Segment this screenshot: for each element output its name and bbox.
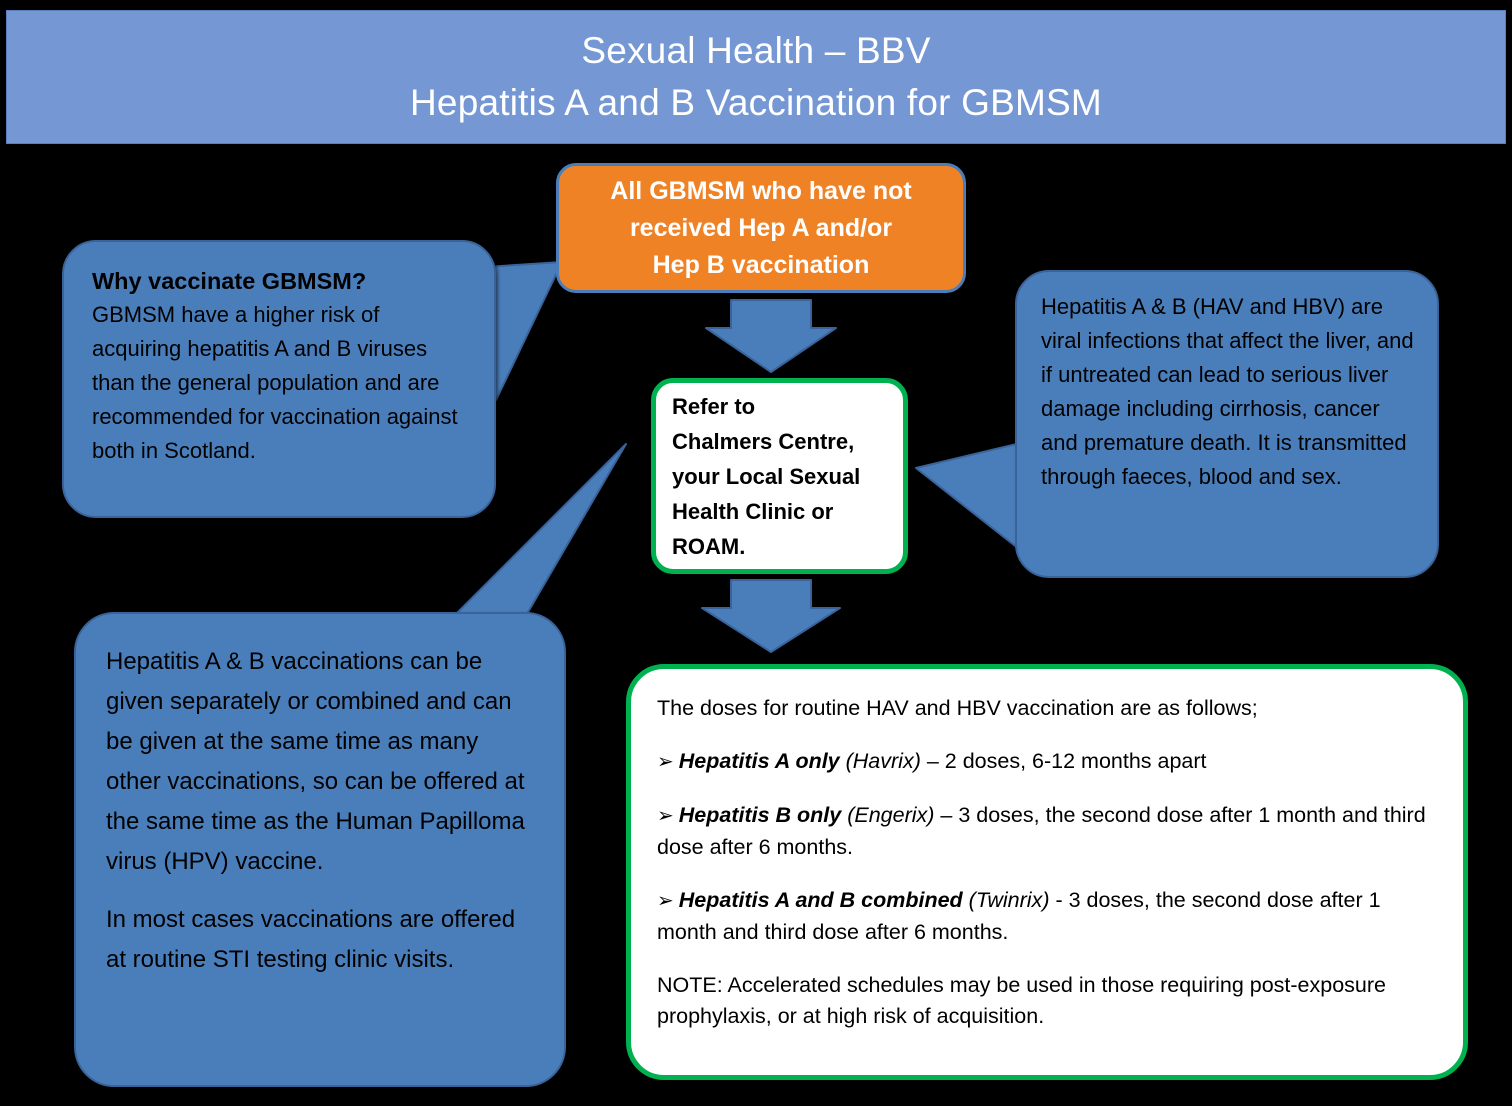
dose-item-hep-b-name: Hepatitis B only [679, 803, 841, 827]
bullet-arrow-icon: ➢ [657, 751, 679, 773]
vaccination-options-callout: Hepatitis A & B vaccinations can be give… [74, 612, 566, 1087]
dose-intro: The doses for routine HAV and HBV vaccin… [657, 693, 1427, 724]
bullet-arrow-icon: ➢ [657, 805, 679, 827]
refer-line-4: Health Clinic or [672, 494, 860, 529]
dose-schedule-box: The doses for routine HAV and HBV vaccin… [626, 664, 1468, 1080]
refer-line-3: your Local Sexual [672, 459, 860, 494]
why-vaccinate-callout: Why vaccinate GBMSM? GBMSM have a higher… [62, 240, 496, 518]
start-criteria-box: All GBMSM who have not received Hep A an… [556, 163, 966, 293]
page-title-line-1: Sexual Health – BBV [581, 25, 930, 77]
why-vaccinate-heading: Why vaccinate GBMSM? [92, 264, 468, 298]
vaccination-paragraph-2: In most cases vaccinations are offered a… [106, 900, 538, 980]
dose-item-hep-b-brand: (Engerix) [847, 803, 934, 827]
start-box-line-3: Hep B vaccination [610, 247, 911, 284]
page-title-line-2: Hepatitis A and B Vaccination for GBMSM [410, 77, 1102, 129]
infographic-slide: Sexual Health – BBV Hepatitis A and B Va… [0, 0, 1512, 1106]
arrow-refer-to-doses [702, 580, 840, 652]
hepatitis-info-body: Hepatitis A & B (HAV and HBV) are viral … [1041, 294, 1414, 489]
dose-item-hep-a-detail: – 2 doses, 6-12 months apart [921, 749, 1207, 773]
arrow-start-to-refer [706, 300, 836, 372]
info-callout-tail [916, 442, 1028, 556]
dose-item-hep-b: ➢Hepatitis B only (Engerix) – 3 doses, t… [657, 800, 1427, 863]
bullet-arrow-icon: ➢ [657, 890, 679, 912]
dose-item-hep-a-brand: (Havrix) [846, 749, 921, 773]
start-box-line-1: All GBMSM who have not [610, 173, 911, 210]
dose-item-hep-ab-brand: (Twinrix) [969, 888, 1050, 912]
page-title-banner: Sexual Health – BBV Hepatitis A and B Va… [6, 10, 1506, 144]
dose-item-hep-ab-name: Hepatitis A and B combined [679, 888, 963, 912]
refer-to-service-box: Refer to Chalmers Centre, your Local Sex… [651, 378, 908, 574]
start-box-line-2: received Hep A and/or [610, 210, 911, 247]
dose-item-hep-a: ➢Hepatitis A only (Havrix) – 2 doses, 6-… [657, 746, 1427, 778]
refer-line-1: Refer to [672, 389, 860, 424]
dose-item-hep-a-name: Hepatitis A only [679, 749, 840, 773]
vaccination-paragraph-spacer [106, 882, 538, 900]
hepatitis-info-callout: Hepatitis A & B (HAV and HBV) are viral … [1015, 270, 1439, 578]
why-vaccinate-body: GBMSM have a higher risk of acquiring he… [92, 302, 458, 463]
dose-note: NOTE: Accelerated schedules may be used … [657, 970, 1427, 1032]
refer-line-2: Chalmers Centre, [672, 424, 860, 459]
vaccination-paragraph-1: Hepatitis A & B vaccinations can be give… [106, 642, 538, 882]
dose-item-hep-ab: ➢Hepatitis A and B combined (Twinrix) - … [657, 885, 1427, 948]
refer-line-5: ROAM. [672, 529, 860, 564]
